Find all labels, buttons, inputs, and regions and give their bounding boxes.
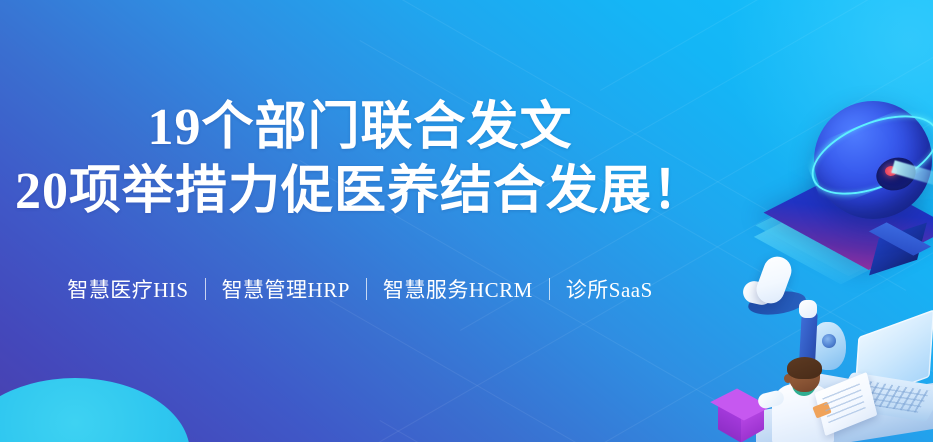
banner-title-line-1: 19个部门联合发文 — [0, 96, 720, 160]
banner-title-line-2: 20项举措力促医养结合发展！ — [0, 160, 720, 224]
microscope-lens-icon — [822, 334, 836, 348]
cyan-blob — [0, 378, 190, 442]
subtitle-item-saas[interactable]: 诊所SaaS — [550, 274, 669, 304]
doctor-hair — [787, 357, 822, 379]
subtitle-item-hcrm[interactable]: 智慧服务HCRM — [367, 274, 549, 304]
banner-text-block: 19个部门联合发文 20项举措力促医养结合发展！ 智慧医疗HIS 智慧管理HRP… — [0, 96, 720, 304]
microscope-eyepiece — [799, 300, 817, 318]
subtitle-item-hrp[interactable]: 智慧管理HRP — [206, 274, 366, 304]
promo-banner: 19个部门联合发文 20项举措力促医养结合发展！ 智慧医疗HIS 智慧管理HRP… — [0, 0, 933, 442]
subtitle-item-his[interactable]: 智慧医疗HIS — [51, 274, 204, 304]
banner-subtitle: 智慧医疗HIS 智慧管理HRP 智慧服务HCRM 诊所SaaS — [0, 274, 720, 304]
